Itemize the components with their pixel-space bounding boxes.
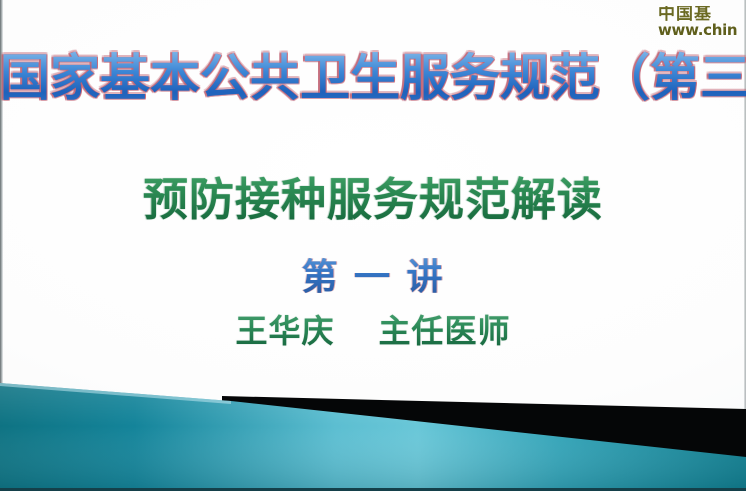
presenter-line: 王华庆主任医师 xyxy=(0,306,746,352)
slide-main-title: 国家基本公共卫生服务规范（第三版） xyxy=(0,50,746,106)
slide-screenshot: 中国基 www.chin 国家基本公共卫生服务规范（第三版） 预防接种服务规范解… xyxy=(0,0,746,491)
lecture-number: 第 一 讲 xyxy=(0,248,746,300)
slide-content: 国家基本公共卫生服务规范（第三版） 预防接种服务规范解读 第 一 讲 王华庆主任… xyxy=(0,0,746,491)
presenter-name: 王华庆 xyxy=(235,312,334,350)
presenter-title: 主任医师 xyxy=(379,312,511,350)
slide-subtitle: 预防接种服务规范解读 xyxy=(0,163,746,228)
